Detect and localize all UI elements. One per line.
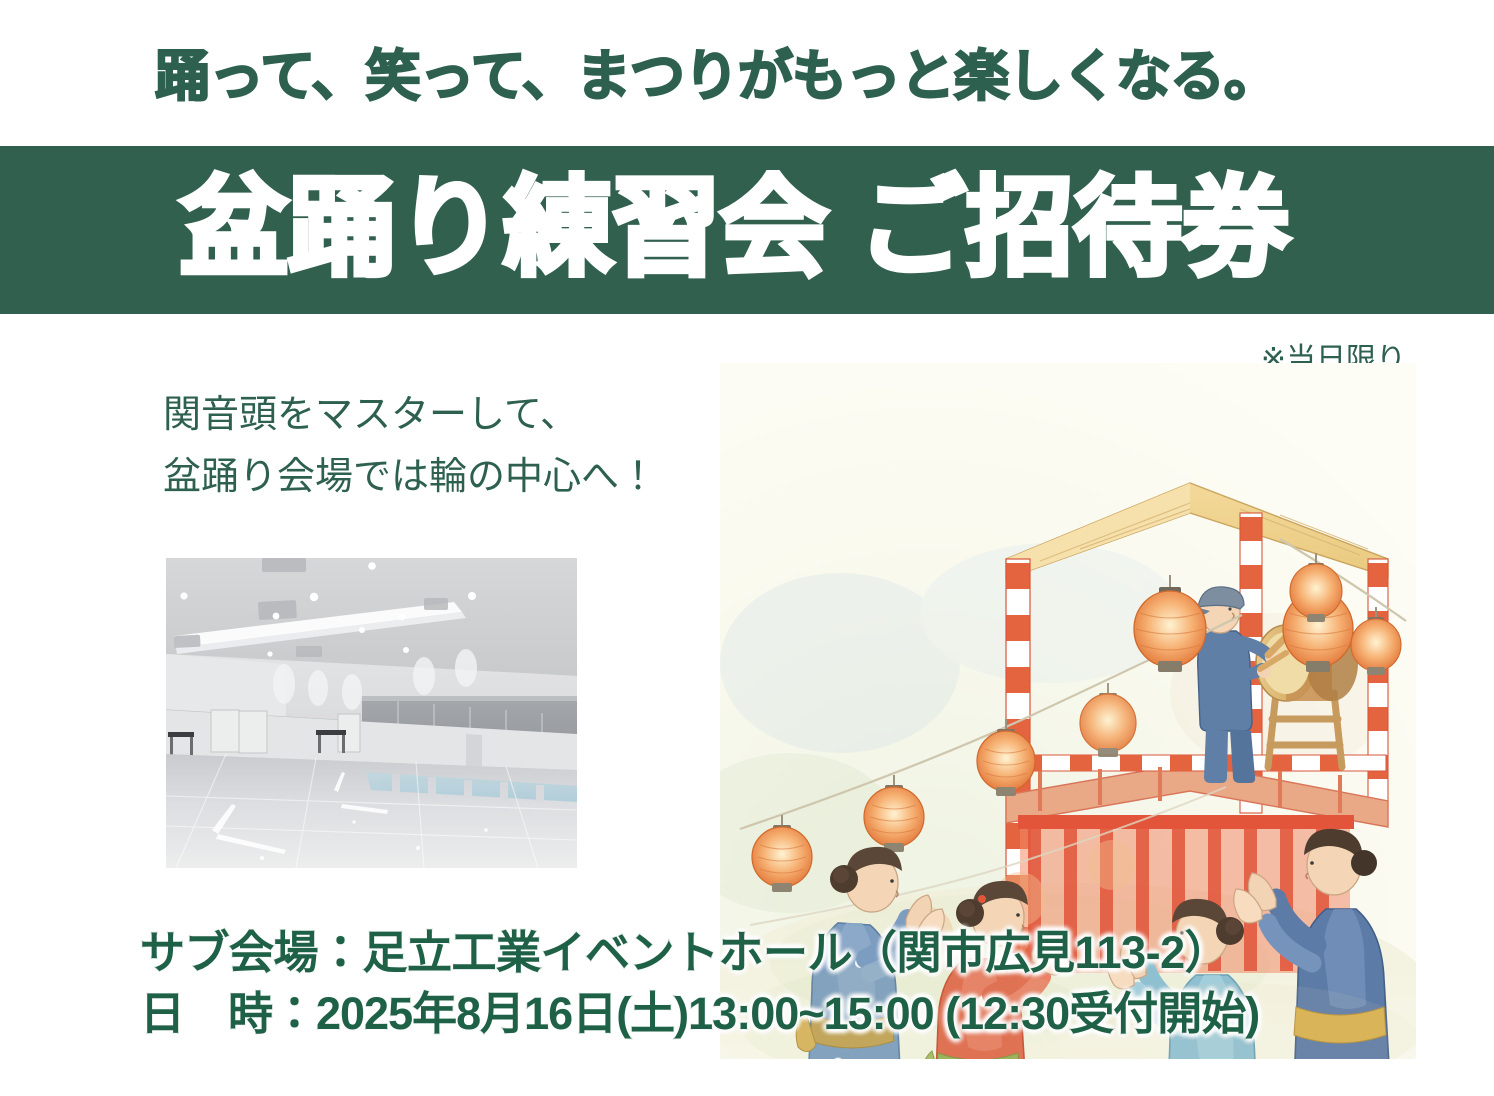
event-details: サブ会場：足立工業イベントホール（関市広見113-2） 日 時：2025年8月1… <box>140 923 1259 1045</box>
tagline: 踊って、笑って、まつりがもっと楽しくなる。 <box>155 49 1278 104</box>
lead-line-2: 盆踊り会場では輪の中心へ！ <box>163 447 657 509</box>
venue-photo <box>166 558 577 868</box>
venue-line: サブ会場：足立工業イベントホール（関市広見113-2） <box>140 923 1259 984</box>
invitation-flyer: 踊って、笑って、まつりがもっと楽しくなる。 盆踊り練習会 ご招待券 ※当日限り … <box>0 0 1494 1096</box>
page-title: 盆踊り練習会 ご招待券 <box>180 166 1290 290</box>
datetime-line: 日 時：2025年8月16日(土)13:00~15:00 (12:30受付開始) <box>140 984 1259 1045</box>
lead-line-1: 関音頭をマスターして、 <box>163 385 657 447</box>
lead-copy: 関音頭をマスターして、 盆踊り会場では輪の中心へ！ <box>163 385 657 508</box>
